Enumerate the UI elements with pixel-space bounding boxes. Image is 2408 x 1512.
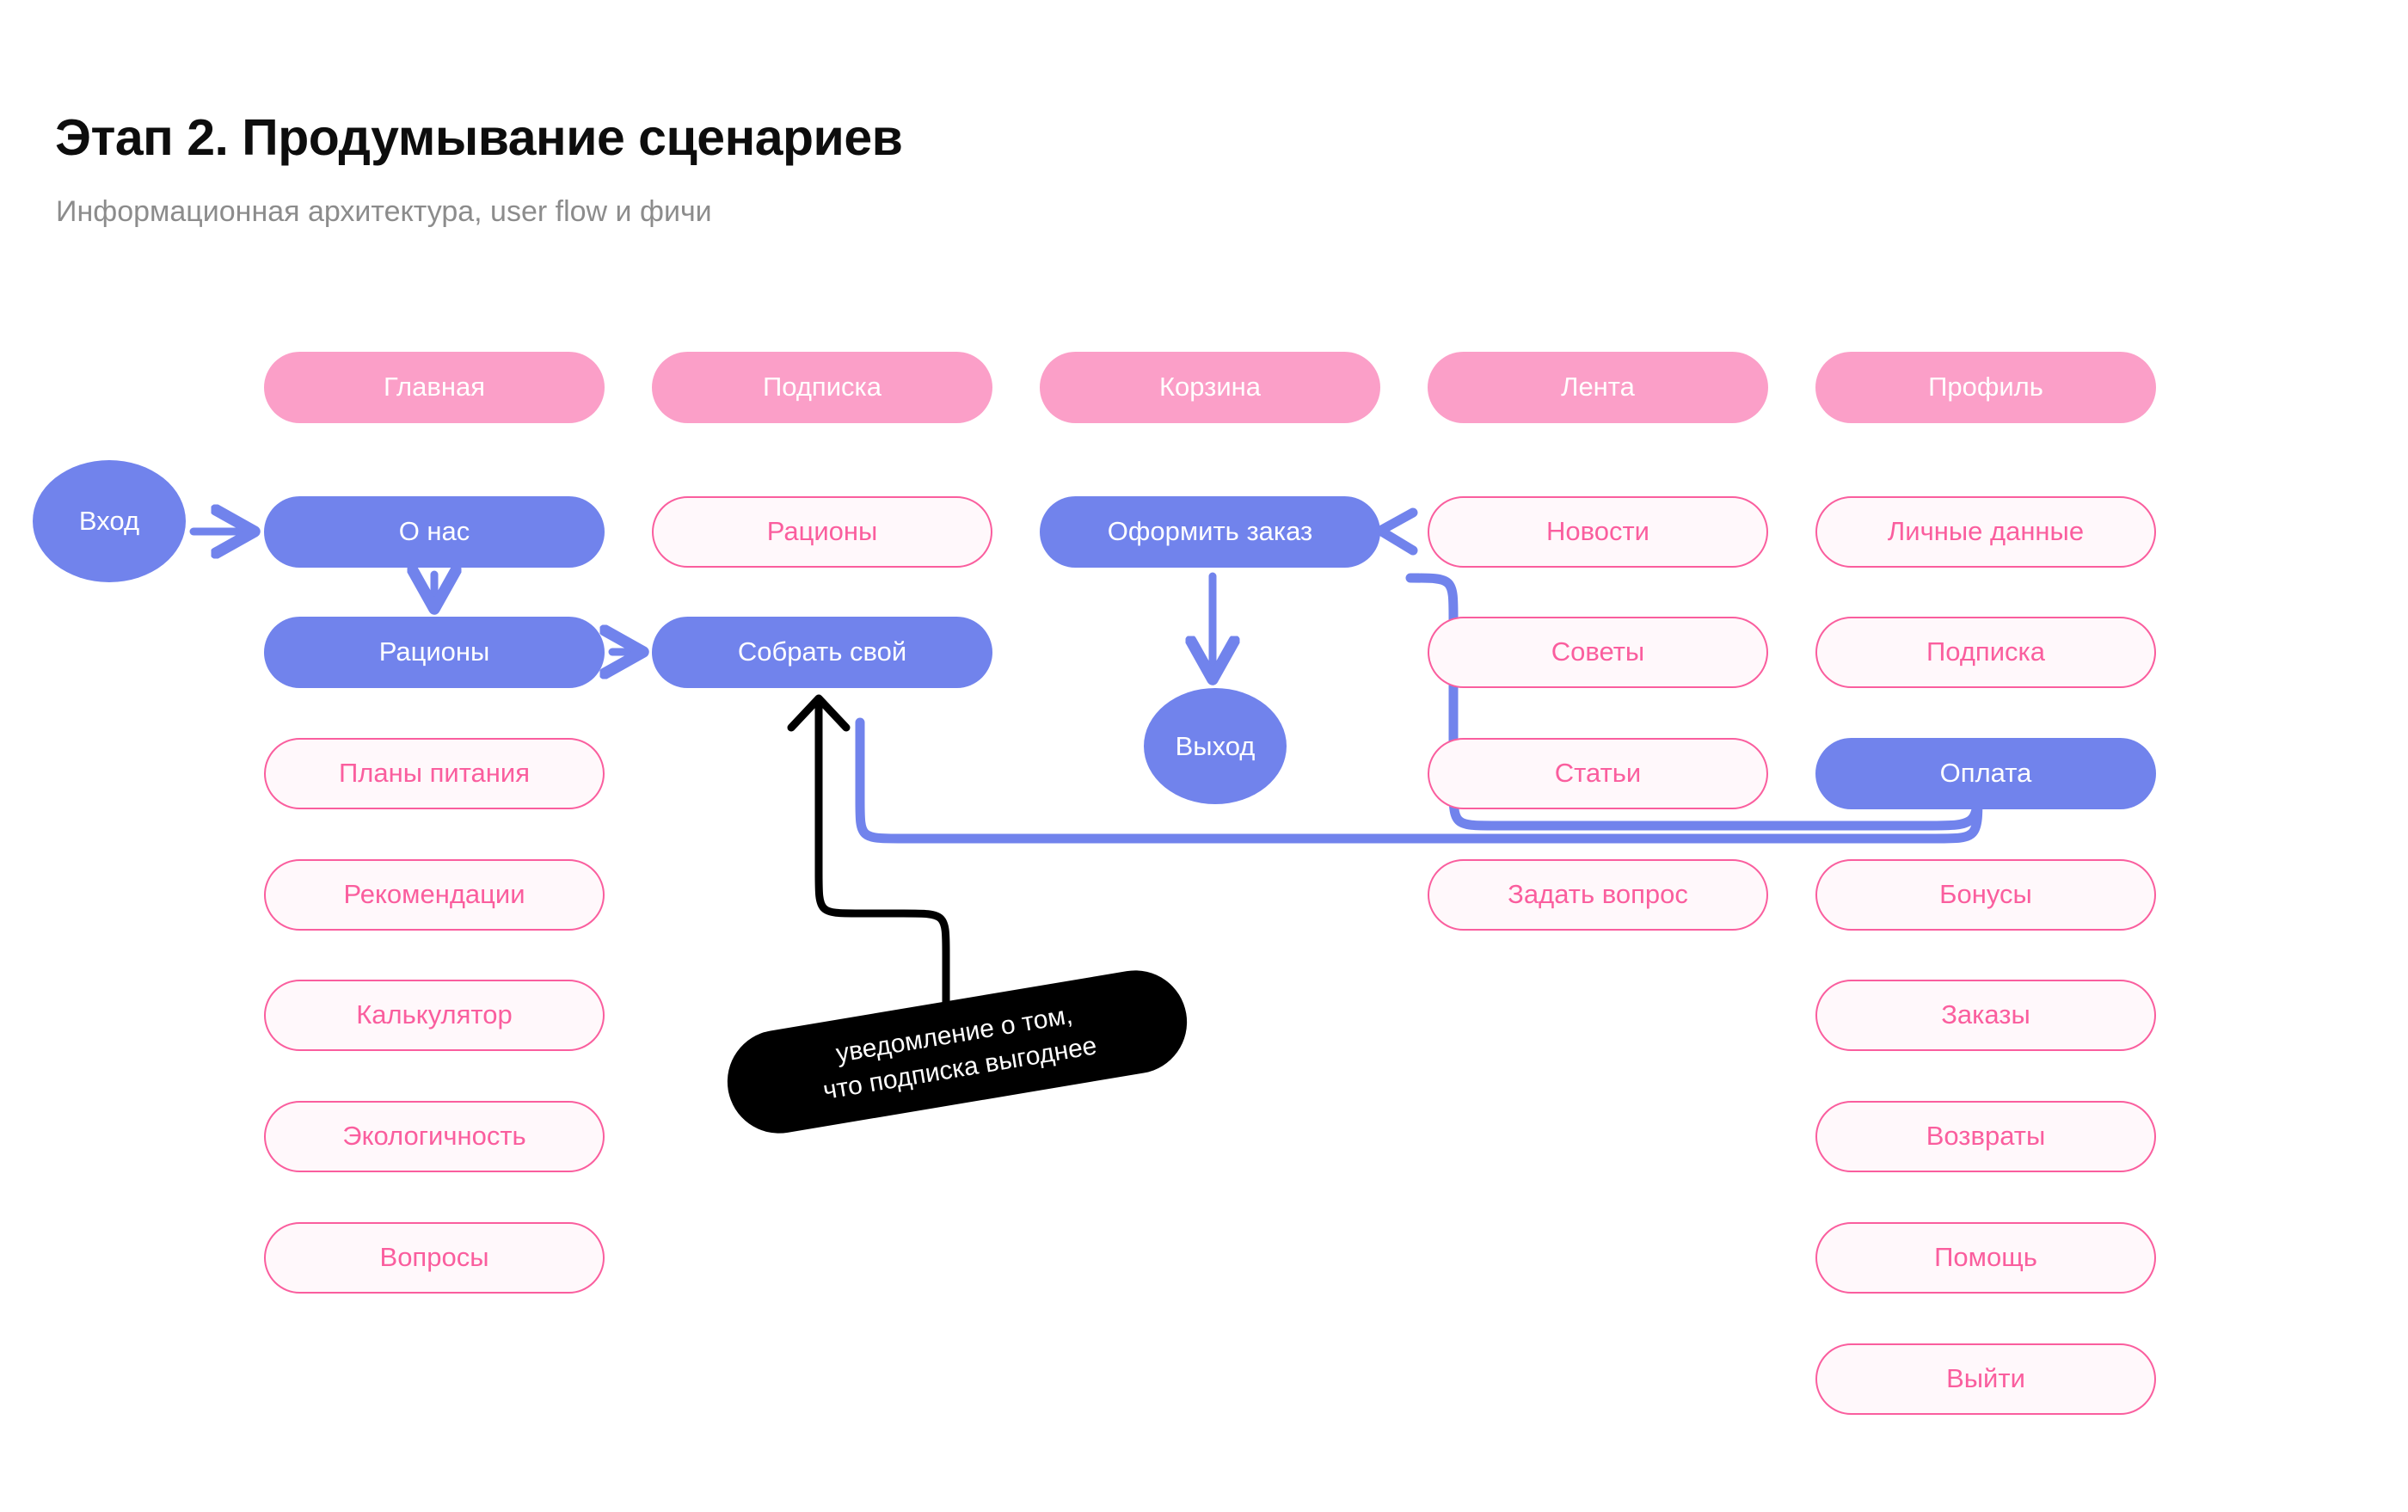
wire-callout-to-sobrat xyxy=(819,704,946,1015)
node-label: Возвраты xyxy=(1926,1122,2046,1151)
node-rekomendacii[interactable]: Рекомендации xyxy=(264,859,605,931)
node-oplata[interactable]: Оплата xyxy=(1815,738,2156,809)
column-header-label: Профиль xyxy=(1928,372,2043,402)
exit-node[interactable]: Выход xyxy=(1144,688,1287,804)
node-label: Планы питания xyxy=(339,759,530,788)
column-header-label: Корзина xyxy=(1159,372,1261,402)
node-label: Помощь xyxy=(1934,1243,2037,1272)
column-header-glavnaya[interactable]: Главная xyxy=(264,352,605,423)
column-header-profil[interactable]: Профиль xyxy=(1815,352,2156,423)
node-raciony-podpiska[interactable]: Рационы xyxy=(652,496,992,568)
column-header-podpiska[interactable]: Подписка xyxy=(652,352,992,423)
node-zakazy[interactable]: Заказы xyxy=(1815,980,2156,1051)
page-title: Этап 2. Продумывание сценариев xyxy=(55,108,902,167)
node-raciony-glavnaya[interactable]: Рационы xyxy=(264,617,605,688)
node-label: Экологичность xyxy=(342,1122,525,1151)
node-vozvraty[interactable]: Возвраты xyxy=(1815,1101,2156,1172)
column-header-lenta[interactable]: Лента xyxy=(1428,352,1768,423)
node-label: Бонусы xyxy=(1939,880,2032,909)
node-label: Задать вопрос xyxy=(1508,880,1688,909)
node-vyyti[interactable]: Выйти xyxy=(1815,1343,2156,1415)
entry-node[interactable]: Вход xyxy=(33,460,186,582)
entry-label: Вход xyxy=(79,506,139,537)
node-label: Рационы xyxy=(767,517,878,546)
arrowhead-into-order xyxy=(1380,513,1413,550)
node-label: Оплата xyxy=(1940,759,2032,788)
node-label: Рекомендации xyxy=(343,880,525,909)
node-podpiska-profil[interactable]: Подписка xyxy=(1815,617,2156,688)
node-ekologichnost[interactable]: Экологичность xyxy=(264,1101,605,1172)
node-oformit-zakaz[interactable]: Оформить заказ xyxy=(1040,496,1380,568)
node-label: Рационы xyxy=(379,637,490,667)
node-label: Новости xyxy=(1546,517,1649,546)
node-novosti[interactable]: Новости xyxy=(1428,496,1768,568)
node-label: Советы xyxy=(1551,637,1644,667)
node-sobrat-svoy[interactable]: Собрать свой xyxy=(652,617,992,688)
callout-text: уведомление о том, что подписка выгоднее xyxy=(789,991,1125,1112)
column-header-label: Лента xyxy=(1561,372,1635,402)
node-label: Подписка xyxy=(1926,637,2045,667)
node-label: Собрать свой xyxy=(738,637,906,667)
node-label: Выйти xyxy=(1946,1364,2025,1393)
node-bonusy[interactable]: Бонусы xyxy=(1815,859,2156,931)
column-header-label: Подписка xyxy=(763,372,881,402)
node-plany-pitaniya[interactable]: Планы питания xyxy=(264,738,605,809)
column-header-label: Главная xyxy=(384,372,485,402)
node-zadat-vopros[interactable]: Задать вопрос xyxy=(1428,859,1768,931)
node-label: Вопросы xyxy=(380,1243,489,1272)
arrowhead-into-sobrat xyxy=(791,698,846,728)
node-lichnye-dannye[interactable]: Личные данные xyxy=(1815,496,2156,568)
exit-label: Выход xyxy=(1176,731,1256,762)
node-sovety[interactable]: Советы xyxy=(1428,617,1768,688)
node-label: Статьи xyxy=(1555,759,1641,788)
wire-oplata-to-sobrat xyxy=(860,722,1978,839)
node-label: Заказы xyxy=(1941,1000,2030,1030)
node-label: О нас xyxy=(399,517,470,546)
column-header-korzina[interactable]: Корзина xyxy=(1040,352,1380,423)
node-voprosy[interactable]: Вопросы xyxy=(264,1222,605,1294)
diagram-canvas: Этап 2. Продумывание сценариев Информаци… xyxy=(0,0,2408,1512)
node-label: Калькулятор xyxy=(356,1000,512,1030)
node-o-nas[interactable]: О нас xyxy=(264,496,605,568)
page-subtitle: Информационная архитектура, user flow и … xyxy=(56,195,712,229)
node-kalkulyator[interactable]: Калькулятор xyxy=(264,980,605,1051)
node-label: Оформить заказ xyxy=(1108,517,1313,546)
node-label: Личные данные xyxy=(1888,517,2084,546)
node-stati[interactable]: Статьи xyxy=(1428,738,1768,809)
node-pomoshch[interactable]: Помощь xyxy=(1815,1222,2156,1294)
callout-note: уведомление о том, что подписка выгоднее xyxy=(720,962,1195,1140)
